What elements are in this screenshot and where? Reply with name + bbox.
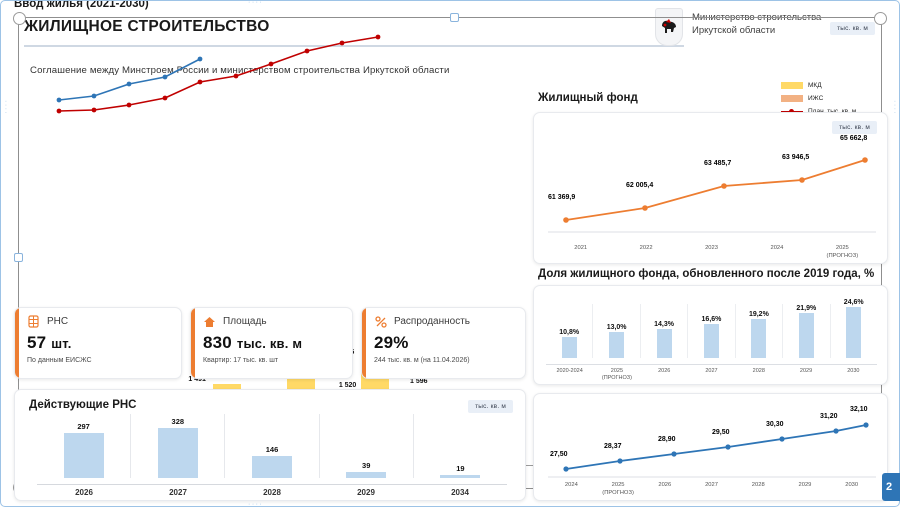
rns-chart-card[interactable]: Действующие РНС тыс. кв. м 297 328 146 3… [14,389,526,501]
rns-bar-2029[interactable]: 39 [320,414,414,478]
unit-badge-rns: тыс. кв. м [468,400,513,413]
prov-data-labels: 27,50 28,37 28,90 29,50 30,30 31,20 32,1… [548,416,876,478]
bar-value-label: 21,9% [796,305,816,312]
kpi-value: 29% [374,333,515,353]
x-tick: 2028 [735,368,782,382]
x-tick: 2030 [828,482,875,497]
share-bar-2020-2024[interactable]: 10,8% [546,304,593,358]
bar-fill [158,428,198,478]
resize-handle-nw[interactable] [13,12,26,25]
kpi-value-unit: тыс. кв. м [237,336,302,351]
fund-chart-card[interactable]: тыс. кв. м 61 369,9 62 005,4 63 485,7 63… [533,112,888,264]
point-label: 62 005,4 [626,182,653,189]
rns-bar-2034[interactable]: 19 [414,414,507,478]
share-bar-2025[interactable]: 13,0% [593,304,640,358]
kpi-card-area[interactable]: Площадь 830 тыс. кв. м Квартир: 17 тыс. … [190,307,353,379]
legend-item-mkd[interactable]: МКД [781,82,873,89]
rns-bar-group: 297 328 146 39 19 [37,414,507,478]
fund-x-axis: 2021 2022 2023 2024 2025 (ПРОГНОЗ) [548,245,875,260]
vvod-zhilya-chart[interactable]: Ввод жилья (2021-2030) ···· ···· ···· ··… [0,0,512,215]
fact-line [59,59,200,100]
bar-fill [609,332,624,358]
kpi-value: 57 шт. [27,333,171,353]
share-x-axis: 2020-2024 2025(ПРОГНОЗ) 2026 2027 2028 2… [546,364,877,382]
kpi-subtext: Квартир: 17 тыс. кв. шт [203,357,342,364]
x-tick: 2024 [744,245,809,260]
kpi-label: Распроданность [394,316,470,327]
kpi-header: Площадь [203,315,342,328]
unit-badge-vvod: тыс. кв. м [830,22,875,35]
bar-value-label: 14,3% [654,321,674,328]
point-label: 28,90 [658,436,676,443]
plan-line [59,37,378,111]
home-icon [203,315,216,328]
bar-value-label: 297 [77,422,90,431]
bar-value-label: 39 [362,461,370,470]
point-label: 63 946,5 [782,154,809,161]
fund-chart-title: Жилищный фонд [538,92,638,104]
x-tick: 2029 [782,482,829,497]
kpi-label: РНС [47,316,68,327]
bar-fill [252,456,292,478]
fund-data-labels: 61 369,9 62 005,4 63 485,7 63 946,5 65 6… [548,131,876,233]
share-bar-2026[interactable]: 14,3% [641,304,688,358]
point-label: 27,50 [550,451,568,458]
selection-dots-left: ···· [2,100,9,115]
kpi-card-sold[interactable]: Распроданность 29% 244 тыс. кв. м (на 11… [361,307,526,379]
percent-icon [374,315,387,328]
x-tick: 2027 [688,368,735,382]
selection-dots-top: ···· [248,0,263,6]
resize-handle-ne[interactable] [874,12,887,25]
kpi-label: Площадь [223,316,267,327]
plan-markers [57,35,381,114]
bar-value-label: 19 [456,464,464,473]
legend-item-ijs[interactable]: ИЖС [781,95,873,102]
kpi-subtext: По данным ЕИСЖС [27,357,171,364]
resize-handle-n[interactable] [450,13,459,22]
x-tick: 2027 [131,488,225,497]
kpi-subtext: 244 тыс. кв. м (на 11.04.2026) [374,357,515,364]
line-series-overlay [41,28,397,173]
x-tick: 2020-2024 [546,368,593,382]
bar-value-label: 328 [172,417,185,426]
point-label: 61 369,9 [548,194,575,201]
bar-fill [346,472,386,478]
point-label: 29,50 [712,429,730,436]
legend-label: МКД [808,82,822,89]
x-tick: 2027 [688,482,735,497]
kpi-header: Распроданность [374,315,515,328]
point-label: 28,37 [604,443,622,450]
share-bar-2030[interactable]: 24,6% [831,304,877,358]
rns-chart-title: Действующие РНС [29,399,136,411]
plan-point-label: 1 520 [339,382,357,389]
selection-dots-right: ···· [891,100,898,115]
x-tick: 2026 [641,368,688,382]
point-label: 31,20 [820,413,838,420]
share-bar-2027[interactable]: 16,6% [688,304,735,358]
x-tick: 2023 [679,245,744,260]
kpi-value-number: 830 [203,333,232,352]
rns-bar-2028[interactable]: 146 [225,414,319,478]
point-label: 32,10 [850,406,868,413]
bar-fill [704,324,719,358]
rns-bar-2027[interactable]: 328 [131,414,225,478]
x-tick: 2028 [735,482,782,497]
x-tick: 2022 [613,245,678,260]
kpi-card-rns[interactable]: РНС 57 шт. По данным ЕИСЖС [14,307,182,379]
kpi-header: РНС [27,315,171,328]
bar-fill [440,475,480,478]
point-label: 65 662,8 [840,135,867,142]
point-label: 63 485,7 [704,160,731,167]
x-tick: 2025 (ПРОГНОЗ) [810,245,875,260]
selection-dots-bottom: ···· [248,501,263,507]
share-bar-2028[interactable]: 19,2% [736,304,783,358]
legend-swatch-ijs [781,95,803,102]
legend-swatch-mkd [781,82,803,89]
share-bar-group: 10,8% 13,0% 14,3% 16,6% 19,2% 21,9% [546,304,877,358]
bar-value-label: 10,8% [559,329,579,336]
bar-fill [657,329,672,358]
x-tick: 2021 [548,245,613,260]
x-tick: 2024 [548,482,595,497]
x-tick: 2026 [37,488,131,497]
bar-value-label: 19,2% [749,311,769,318]
bar-fill [64,433,104,478]
rns-x-axis: 2026 2027 2028 2029 2034 [37,484,507,497]
x-tick: 2034 [413,488,507,497]
bar-fill [846,307,861,358]
fact-markers [57,57,203,103]
page-number-badge: 2 [882,473,900,501]
kpi-value-unit: шт. [51,336,71,351]
share-chart-card[interactable]: 10,8% 13,0% 14,3% 16,6% 19,2% 21,9% [533,285,888,385]
x-tick: 2025(ПРОГНОЗ) [595,482,642,497]
prov-chart-card[interactable]: 27,50 28,37 28,90 29,50 30,30 31,20 32,1… [533,393,888,501]
dashboard-page: ЖИЛИЩНОЕ СТРОИТЕЛЬСТВО Министерство стро… [0,0,900,507]
legend-label: ИЖС [808,95,823,102]
document-list-icon [27,315,40,328]
rns-bar-2026[interactable]: 297 [37,414,131,478]
x-tick: 2026 [641,482,688,497]
bar-fill [562,337,577,358]
share-chart-title: Доля жилищного фонда, обновленного после… [538,268,874,280]
kpi-value-number: 29% [374,333,409,352]
bar-fill [751,319,766,358]
plan-point-label: 1 596 [410,378,428,385]
bar-value-label: 16,6% [702,316,722,323]
x-tick: 2029 [782,368,829,382]
kpi-value: 830 тыс. кв. м [203,333,342,353]
x-tick: 2029 [319,488,413,497]
x-tick: 2025(ПРОГНОЗ) [593,368,640,382]
point-label: 30,30 [766,421,784,428]
x-tick: 2030 [830,368,877,382]
x-tick: 2028 [225,488,319,497]
bar-value-label: 146 [266,445,279,454]
kpi-value-number: 57 [27,333,46,352]
bar-value-label: 24,6% [844,299,864,306]
bar-fill [799,313,814,358]
share-bar-2029[interactable]: 21,9% [783,304,830,358]
resize-handle-w[interactable] [14,253,23,262]
bar-value-label: 13,0% [607,324,627,331]
prov-x-axis: 2024 2025(ПРОГНОЗ) 2026 2027 2028 2029 2… [548,482,875,497]
